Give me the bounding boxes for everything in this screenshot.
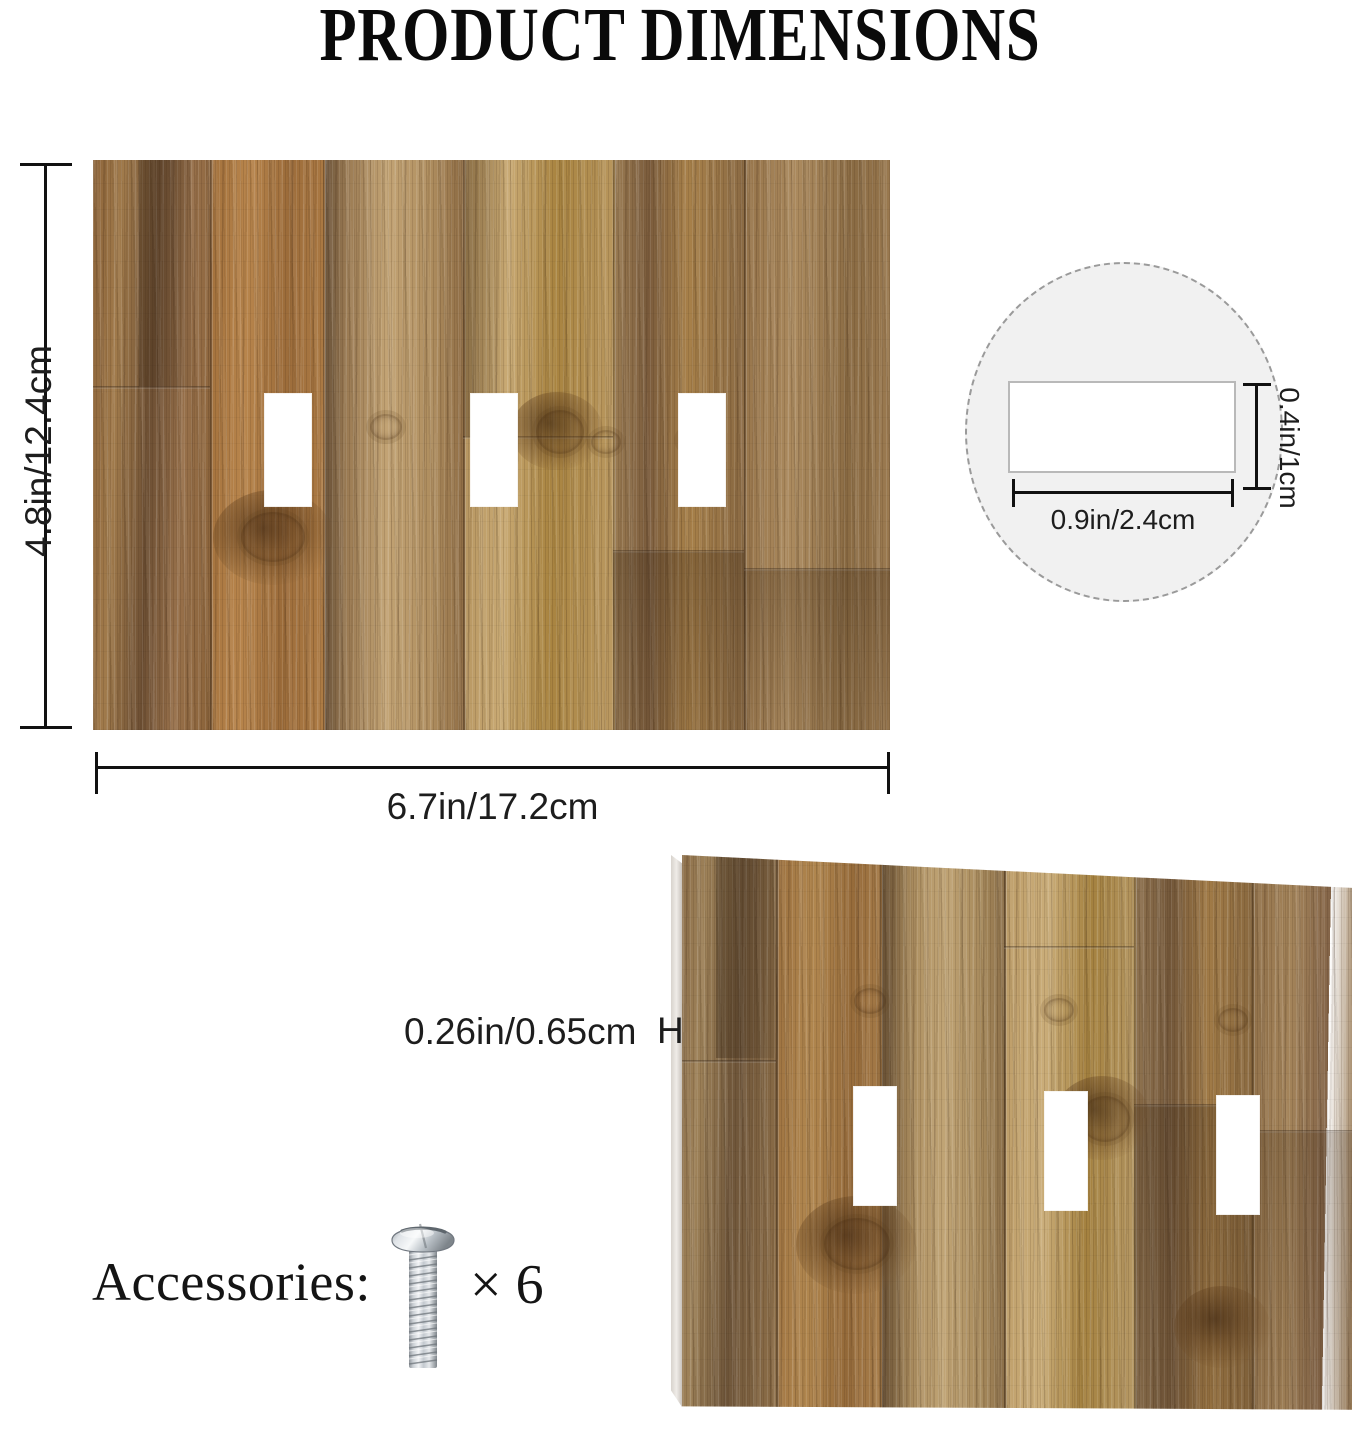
cutout-width-cap-left (1012, 479, 1015, 507)
plate-thickness-edge (671, 855, 682, 1407)
wood-knot (1174, 1286, 1270, 1368)
width-dimension-line (95, 766, 890, 769)
product-plate-perspective-view (676, 846, 1352, 1412)
cutout-height-cap-bottom (1243, 487, 1271, 490)
height-dimension-cap-bottom (20, 726, 72, 729)
plank-seam (1004, 946, 1134, 949)
cutout-detail-rectangle (1008, 381, 1236, 473)
toggle-switch-cutout (854, 1087, 896, 1205)
plank (676, 846, 778, 1412)
accessories-label: Accessories: (92, 1251, 371, 1313)
toggle-switch-cutout (471, 394, 517, 506)
plank-seam (676, 1060, 776, 1063)
page-title: PRODUCT DIMENSIONS (136, 0, 1224, 76)
wood-knot (1218, 1008, 1248, 1032)
plank-seam (744, 568, 890, 571)
toggle-switch-cutout (1217, 1096, 1259, 1214)
plank-seam (1252, 1130, 1352, 1133)
plank-seam (210, 160, 213, 730)
plank (93, 160, 212, 730)
wood-knot (824, 1218, 890, 1270)
cutout-height-label: 0.4in/1cm (1273, 358, 1305, 538)
accessories-quantity: × 6 (470, 1253, 544, 1317)
wood-knot (370, 414, 402, 440)
height-dimension-label: 4.8in/12.4cm (18, 306, 60, 596)
toggle-switch-cutout (679, 394, 725, 506)
height-dimension-cap-top (20, 163, 72, 166)
toggle-switch-cutout (265, 394, 311, 506)
wood-knot (854, 988, 886, 1014)
plank-seam (323, 160, 326, 730)
plank (325, 160, 465, 730)
plank-seam (1004, 846, 1007, 1412)
cutout-height-cap-top (1243, 383, 1271, 386)
wood-knot (536, 410, 584, 454)
product-plate-front-view (93, 160, 890, 730)
wood-knot (1044, 998, 1074, 1022)
plank-seam (613, 550, 744, 553)
width-dimension-label: 6.7in/17.2cm (95, 786, 890, 828)
plank-seam (744, 160, 747, 730)
plank (882, 846, 1006, 1412)
cutout-width-cap-right (1231, 479, 1234, 507)
wood-knot (591, 430, 621, 454)
plank (746, 160, 890, 730)
plank-seam (463, 160, 466, 730)
screw-icon (390, 1218, 456, 1378)
wood-knot (1080, 1096, 1130, 1142)
cutout-width-label: 0.9in/2.4cm (1000, 504, 1246, 536)
plank-seam (93, 386, 210, 389)
thickness-marker-icon: H (657, 1010, 684, 1052)
cutout-width-dimension-line (1012, 491, 1234, 494)
toggle-switch-cutout (1045, 1092, 1087, 1210)
wood-knot (241, 512, 305, 562)
cutout-height-dimension-line (1255, 383, 1258, 490)
thickness-label: 0.26in/0.65cm (404, 1011, 636, 1053)
plank-seam (776, 846, 779, 1412)
